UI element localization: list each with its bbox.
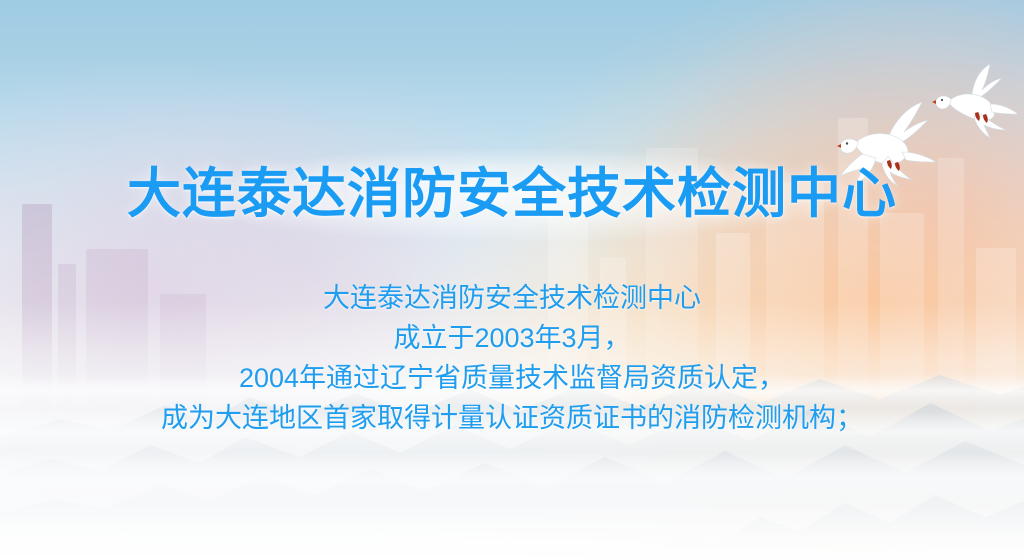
banner-description-block: 大连泰达消防安全技术检测中心 成立于2003年3月， 2004年通过辽宁省质量技… xyxy=(0,278,1024,438)
description-line-1: 大连泰达消防安全技术检测中心 xyxy=(0,278,1024,318)
description-line-4: 成为大连地区首家取得计量认证资质证书的消防检测机构； xyxy=(0,398,1024,438)
page-title: 大连泰达消防安全技术检测中心 xyxy=(127,163,897,227)
description-line-3: 2004年通过辽宁省质量技术监督局资质认定， xyxy=(0,358,1024,398)
banner-title-block: 大连泰达消防安全技术检测中心 xyxy=(0,163,1024,227)
company-intro-banner: 大连泰达消防安全技术检测中心 大连泰达消防安全技术检测中心 成立于2003年3月… xyxy=(0,0,1024,560)
flying-dove xyxy=(928,64,1020,142)
description-line-2: 成立于2003年3月， xyxy=(0,318,1024,358)
